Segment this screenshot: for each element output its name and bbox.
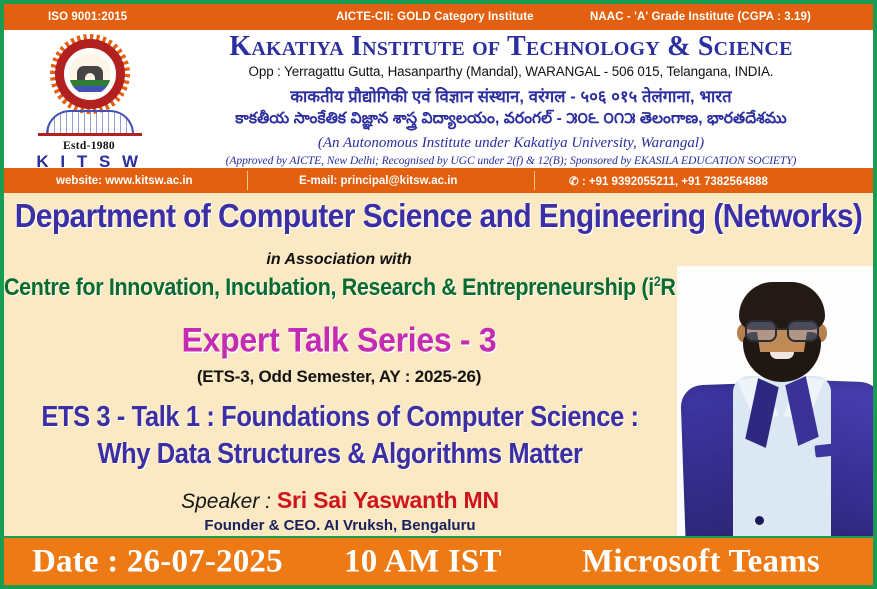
smile bbox=[770, 352, 794, 359]
seal-bridge-icon bbox=[38, 106, 142, 144]
speaker-name: Sri Sai Yaswanth MN bbox=[277, 487, 499, 513]
eyeglasses-icon bbox=[739, 320, 825, 342]
centre-name: Centre for Innovation, Incubation, Resea… bbox=[4, 274, 684, 302]
institute-name-telugu: కాకతీయ సాంకేతిక విజ్ఞాన శాస్త్ర విద్యాలయ… bbox=[152, 110, 870, 131]
speaker-designation: Founder & CEO. AI Vruksh, Bengaluru bbox=[4, 517, 676, 534]
suit-button bbox=[755, 516, 764, 525]
speaker-label: Speaker : bbox=[181, 490, 277, 513]
centre-name-prefix: Centre for Innovation, Incubation, Resea… bbox=[4, 274, 654, 300]
seal-inner-emblem bbox=[69, 53, 111, 95]
bridge-arc bbox=[46, 110, 134, 134]
speaker-row: Speaker : Sri Sai Yaswanth MN bbox=[4, 487, 676, 514]
contact-strip: website: www.kitsw.ac.in E-mail: princip… bbox=[4, 168, 873, 193]
association-label: in Association with bbox=[4, 251, 674, 269]
contact-divider-2 bbox=[534, 171, 535, 190]
seal-blue-band bbox=[69, 86, 111, 92]
kitsw-logo: Estd-1980 K I T S W bbox=[30, 32, 148, 166]
institute-approval-note: (Approved by AICTE, New Delhi; Recognise… bbox=[152, 154, 870, 167]
contact-divider-1 bbox=[247, 171, 248, 190]
lens-left bbox=[745, 320, 777, 342]
iso-certification-label: ISO 9001:2015 bbox=[48, 11, 127, 23]
event-venue: Microsoft Teams bbox=[582, 543, 820, 580]
accreditation-strip: ISO 9001:2015 AICTE-CII: GOLD Category I… bbox=[4, 4, 873, 30]
talk-title-line-1: ETS 3 - Talk 1 : Foundations of Computer… bbox=[4, 401, 676, 433]
bridge-deck bbox=[38, 133, 142, 136]
poster-body: Department of Computer Science and Engin… bbox=[4, 193, 873, 546]
institute-autonomy-note: (An Autonomous Institute under Kakatiya … bbox=[152, 135, 870, 152]
aicte-category-label: AICTE-CII: GOLD Category Institute bbox=[336, 11, 534, 23]
institute-seal-icon bbox=[50, 34, 130, 114]
phone-numbers: ✆ : +91 9392055211, +91 7382564888 bbox=[569, 174, 768, 188]
institute-details: Kakatiya Institute of Technology & Scien… bbox=[152, 30, 870, 167]
institute-header: Estd-1980 K I T S W Kakatiya Institute o… bbox=[4, 30, 873, 168]
event-footer-bar: Date : 26-07-2025 10 AM IST Microsoft Te… bbox=[4, 538, 873, 585]
logo-established-year: Estd-1980 bbox=[30, 140, 148, 152]
series-subtitle: (ETS-3, Odd Semester, AY : 2025-26) bbox=[4, 367, 674, 387]
series-title: Expert Talk Series - 3 bbox=[4, 321, 674, 360]
event-poster: ISO 9001:2015 AICTE-CII: GOLD Category I… bbox=[0, 0, 877, 589]
lens-bridge bbox=[777, 328, 787, 330]
event-time: 10 AM IST bbox=[344, 543, 502, 580]
institute-name: Kakatiya Institute of Technology & Scien… bbox=[152, 32, 870, 61]
website-link[interactable]: website: www.kitsw.ac.in bbox=[56, 175, 193, 187]
talk-title-line-2: Why Data Structures & Algorithms Matter bbox=[4, 438, 676, 470]
lens-right bbox=[787, 320, 819, 342]
event-date: Date : 26-07-2025 bbox=[32, 543, 283, 580]
speaker-photo bbox=[677, 266, 877, 546]
email-link[interactable]: E-mail: principal@kitsw.ac.in bbox=[299, 175, 457, 187]
institute-address: Opp : Yerragattu Gutta, Hasanparthy (Man… bbox=[152, 64, 870, 79]
department-title: Department of Computer Science and Engin… bbox=[4, 198, 873, 236]
institute-name-hindi: काकतीय प्रौद्योगिकी एवं विज्ञान संस्थान,… bbox=[152, 84, 870, 107]
naac-grade-label: NAAC - 'A' Grade Institute (CGPA : 3.19) bbox=[590, 11, 811, 23]
